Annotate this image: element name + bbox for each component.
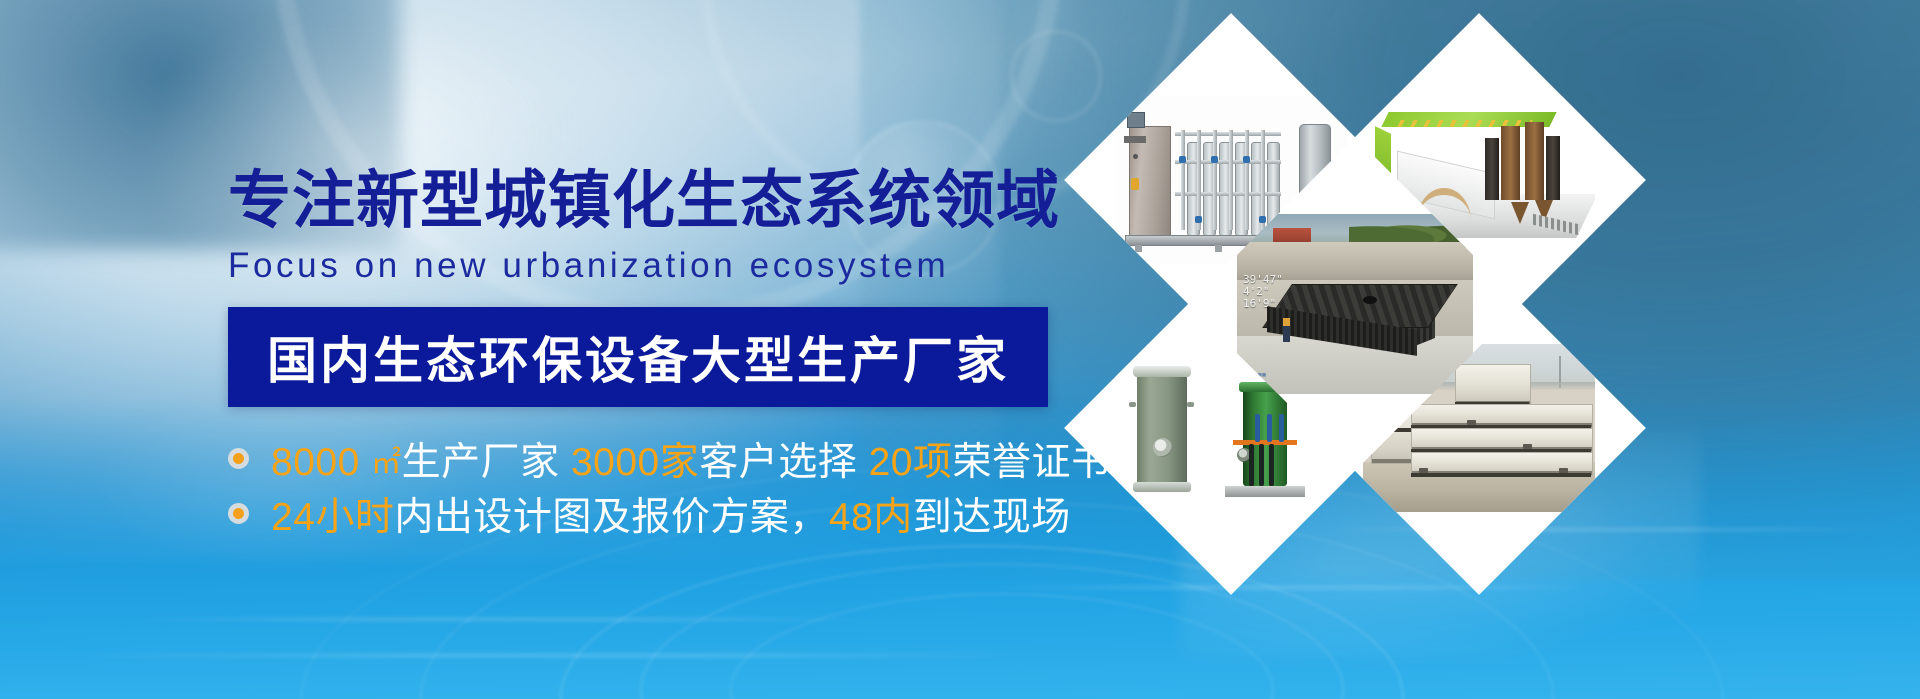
banner-bullet-list: 8000 ㎡生产厂家 3000家客户选择 20项荣誉证书 24小时内出设计图及报… bbox=[228, 431, 1128, 541]
product-diamond-collage: 39'47"4'2"16'9" ■■■■■■■■■■ bbox=[1113, 62, 1633, 608]
banner-highlight-box: 国内生态环保设备大型生产厂家 bbox=[228, 307, 1048, 407]
bullet-text: 24小时内出设计图及报价方案，48内到达现场 bbox=[271, 486, 1071, 542]
banner-text-block: 专注新型城镇化生态系统领域 Focus on new urbanization … bbox=[228, 168, 1128, 541]
bullet-dot-icon bbox=[228, 448, 249, 469]
banner-headline: 专注新型城镇化生态系统领域 bbox=[228, 168, 1128, 235]
water-wave-line bbox=[60, 654, 1040, 657]
photo-modular-black-tank: 39'47"4'2"16'9" ■■■■■■■■■■ bbox=[1237, 214, 1473, 394]
hero-banner: 专注新型城镇化生态系统领域 Focus on new urbanization … bbox=[0, 0, 1920, 699]
photo-dimension-overlay: 39'47"4'2"16'9" bbox=[1243, 274, 1283, 310]
bullet-dot-icon bbox=[228, 503, 249, 524]
water-wave-line bbox=[120, 618, 880, 621]
banner-highlight-box-text: 国内生态环保设备大型生产厂家 bbox=[267, 321, 1009, 393]
bubble-tiny-decoration bbox=[1010, 30, 1102, 122]
bullet-item: 24小时内出设计图及报价方案，48内到达现场 bbox=[228, 486, 1128, 541]
bullet-text: 8000 ㎡生产厂家 3000家客户选择 20项荣誉证书 bbox=[271, 431, 1110, 487]
banner-subheadline: Focus on new urbanization ecosystem bbox=[228, 247, 1128, 286]
bullet-item: 8000 ㎡生产厂家 3000家客户选择 20项荣誉证书 bbox=[228, 431, 1128, 486]
